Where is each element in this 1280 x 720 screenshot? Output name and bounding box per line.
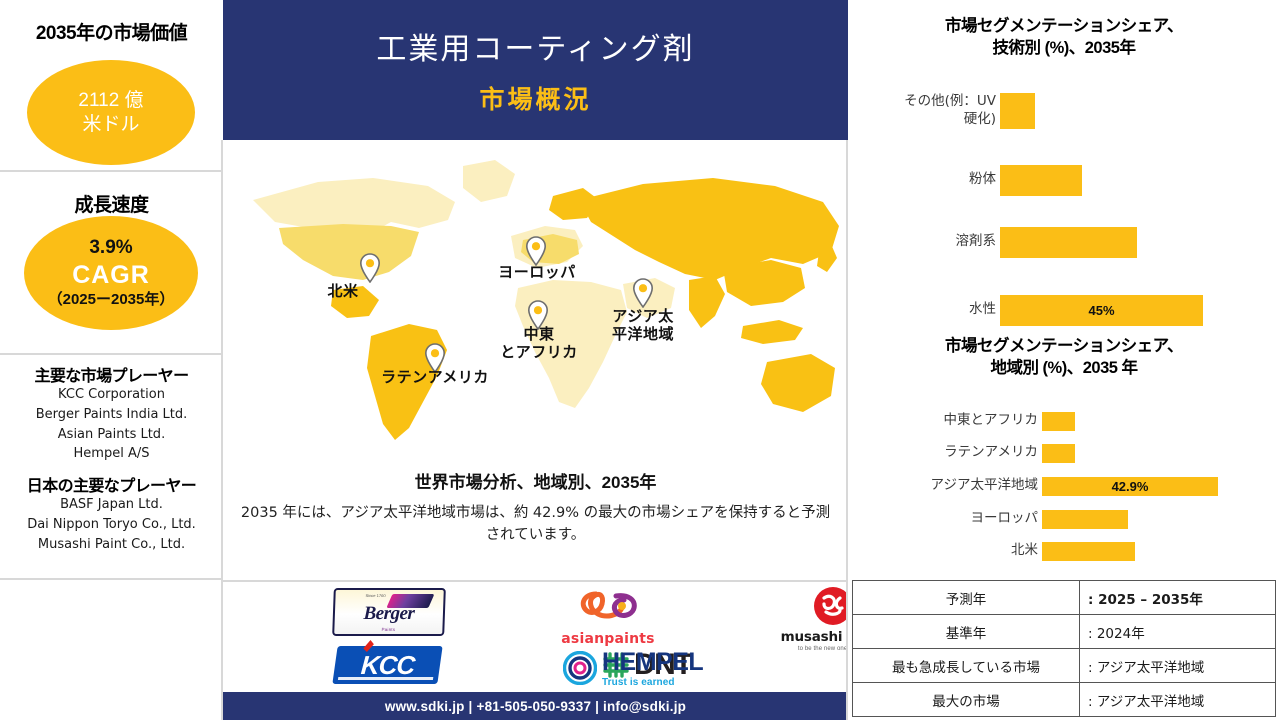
logo-asianpaints: asianpaints (548, 590, 668, 647)
cagr-period: （2025ー2035年） (48, 291, 175, 310)
bar-value (1042, 444, 1075, 463)
bar-label: 北米 (848, 542, 1038, 560)
partner-logos: Since 1760 Berger Paints KCC asianpaints (223, 584, 848, 692)
growth-rate-title: 成長速度 (0, 190, 223, 217)
list-item: Dai Nippon Toryo Co., Ltd. (0, 515, 223, 535)
bar-label: 溶剤系 (848, 233, 996, 251)
key-players-list: KCC Corporation Berger Paints India Ltd.… (0, 385, 223, 464)
table-row: 最も急成長している市場 : アジア太平洋地域 (853, 649, 1276, 683)
asianpaints-mark-icon (576, 590, 640, 624)
map-caption: 世界市場分析、地域別、2035年 2035 年には、アジア太平洋地域市場は、約 … (223, 468, 848, 547)
chart-region: 市場セグメンテーションシェア、 地域別 (%)、2035 年 (858, 336, 1270, 380)
market-value-title: 2035年の市場価値 (0, 18, 223, 45)
location-pin-icon (359, 253, 381, 283)
bar-label: ラテンアメリカ (848, 444, 1038, 462)
table-cell-key: 基準年 (853, 615, 1080, 649)
panel-divider-3 (0, 578, 223, 580)
bar-value: 42.9% (1042, 477, 1218, 496)
growth-rate-bubble: 3.9% CAGR （2025ー2035年） (24, 216, 198, 330)
right-column-divider (846, 140, 848, 720)
asianpaints-wordmark: asianpaints (548, 631, 668, 647)
bar-row-others: その他(例：UV 硬化) (848, 88, 1280, 134)
logo-kcc: KCC (335, 646, 440, 684)
map-caption-title: 世界市場分析、地域別、2035年 (223, 468, 848, 493)
cagr-label: CAGR (72, 260, 150, 291)
page-title: 工業用コーティング剤 (376, 24, 694, 68)
table-cell-value: : アジア太平洋地域 (1080, 683, 1276, 717)
bar-row-namerica: 北米 (848, 540, 1280, 562)
table-cell-key: 予測年 (853, 581, 1080, 615)
panel-divider-1 (0, 170, 223, 172)
right-charts-panel: 市場セグメンテーションシェア、 技術別 (%)、2035年 その他(例：UV 硬… (848, 0, 1280, 720)
location-pin-icon (525, 236, 547, 266)
bar-value: 45% (1000, 295, 1203, 326)
logo-berger: Since 1760 Berger Paints (333, 588, 445, 636)
hempel-wordmark: HEMPEL (602, 648, 703, 677)
summary-table: 予測年 : 2025 – 2035年 基準年 : 2024年 最も急成長している… (852, 580, 1276, 717)
footer-contact-bar: www.sdki.jp | +81-505-050-9337 | info@sd… (223, 692, 848, 720)
bar-label: 中東とアフリカ (848, 412, 1038, 430)
bar-row-powder: 粉体 (848, 164, 1280, 196)
logos-divider (223, 580, 848, 582)
panel-divider-2 (0, 353, 223, 355)
table-cell-key: 最も急成長している市場 (853, 649, 1080, 683)
table-row: 基準年 : 2024年 (853, 615, 1276, 649)
berger-wordmark: Berger (335, 603, 444, 625)
bar-value (1042, 412, 1075, 431)
location-pin-icon (632, 278, 654, 308)
cagr-percent: 3.9% (89, 236, 132, 260)
bar-row-europe: ヨーロッパ (848, 508, 1280, 530)
table-row: 予測年 : 2025 – 2035年 (853, 581, 1276, 615)
map-region-label-latin-america: ラテンアメリカ (355, 369, 515, 387)
bar-value (1000, 165, 1082, 196)
hempel-mark-icon (563, 651, 597, 685)
table-cell-value: : 2025 – 2035年 (1080, 581, 1276, 615)
market-value-bubble: 2112 億 米ドル (27, 60, 195, 165)
kcc-wordmark: KCC (360, 650, 416, 681)
bar-label: ヨーロッパ (848, 510, 1038, 528)
bar-value (1042, 510, 1128, 529)
logo-hempel-group: HEMPEL Trust is earned (563, 648, 703, 688)
infographic-root: 2035年の市場価値 2112 億 米ドル 成長速度 3.9% CAGR （20… (0, 0, 1280, 720)
key-players-heading: 主要な市場プレーヤー (0, 362, 223, 386)
bar-row-apac: アジア太平洋地域 42.9% (848, 475, 1280, 497)
market-value-amount: 2112 億 (78, 89, 143, 113)
map-region-label-europe: ヨーロッパ (472, 264, 602, 282)
bar-row-latam: ラテンアメリカ (848, 442, 1280, 464)
chart-region-title: 市場セグメンテーションシェア、 地域別 (%)、2035 年 (858, 336, 1270, 380)
bar-label: アジア太平洋地域 (848, 477, 1038, 495)
table-cell-key: 最大の市場 (853, 683, 1080, 717)
bar-value (1000, 93, 1035, 129)
berger-since-text: Since 1760 (365, 593, 385, 598)
kcc-underline (338, 677, 433, 680)
header-banner: 工業用コーティング剤 市場概況 (223, 0, 848, 140)
bar-row-waterborne: 水性 45% (848, 294, 1280, 326)
bar-row-mea: 中東とアフリカ (848, 410, 1280, 432)
bar-value-label: 42.9% (1112, 479, 1149, 494)
chart-technology-title: 市場セグメンテーションシェア、 技術別 (%)、2035年 (858, 16, 1270, 60)
japan-players-list: BASF Japan Ltd. Dai Nippon Toryo Co., Lt… (0, 495, 223, 554)
left-summary-panel: 2035年の市場価値 2112 億 米ドル 成長速度 3.9% CAGR （20… (0, 0, 223, 720)
chart-technology: 市場セグメンテーションシェア、 技術別 (%)、2035年 (858, 16, 1270, 60)
footer-contact-text: www.sdki.jp | +81-505-050-9337 | info@sd… (385, 699, 686, 714)
table-row: 最大の市場 : アジア太平洋地域 (853, 683, 1276, 717)
bar-label: 粉体 (848, 171, 996, 189)
list-item: Musashi Paint Co., Ltd. (0, 535, 223, 555)
list-item: Berger Paints India Ltd. (0, 405, 223, 425)
hempel-tagline: Trust is earned (602, 677, 703, 688)
map-region-label-middle-east-africa: 中東 とアフリカ (478, 326, 600, 361)
list-item: Hempel A/S (0, 444, 223, 464)
list-item: KCC Corporation (0, 385, 223, 405)
bar-label: その他(例：UV 硬化) (848, 93, 996, 128)
map-caption-body: 2035 年には、アジア太平洋地域市場は、約 42.9% の最大の市場シェアを保… (223, 502, 848, 547)
page-subtitle: 市場概況 (479, 80, 591, 116)
map-region-label-north-america: 北米 (303, 283, 383, 301)
japan-players-heading: 日本の主要なプレーヤー (0, 472, 223, 496)
table-cell-value: : 2024年 (1080, 615, 1276, 649)
berger-tagline: Paints (334, 627, 442, 632)
map-region-label-asia-pacific: アジア太 平洋地域 (588, 308, 698, 343)
market-value-currency: 米ドル (82, 113, 139, 137)
bar-label: 水性 (848, 301, 996, 319)
bar-value (1042, 542, 1135, 561)
list-item: BASF Japan Ltd. (0, 495, 223, 515)
list-item: Asian Paints Ltd. (0, 425, 223, 445)
bar-row-solvent: 溶剤系 (848, 226, 1280, 258)
bar-value (1000, 227, 1137, 258)
table-cell-value: : アジア太平洋地域 (1080, 649, 1276, 683)
bar-value-label: 45% (1088, 303, 1114, 318)
